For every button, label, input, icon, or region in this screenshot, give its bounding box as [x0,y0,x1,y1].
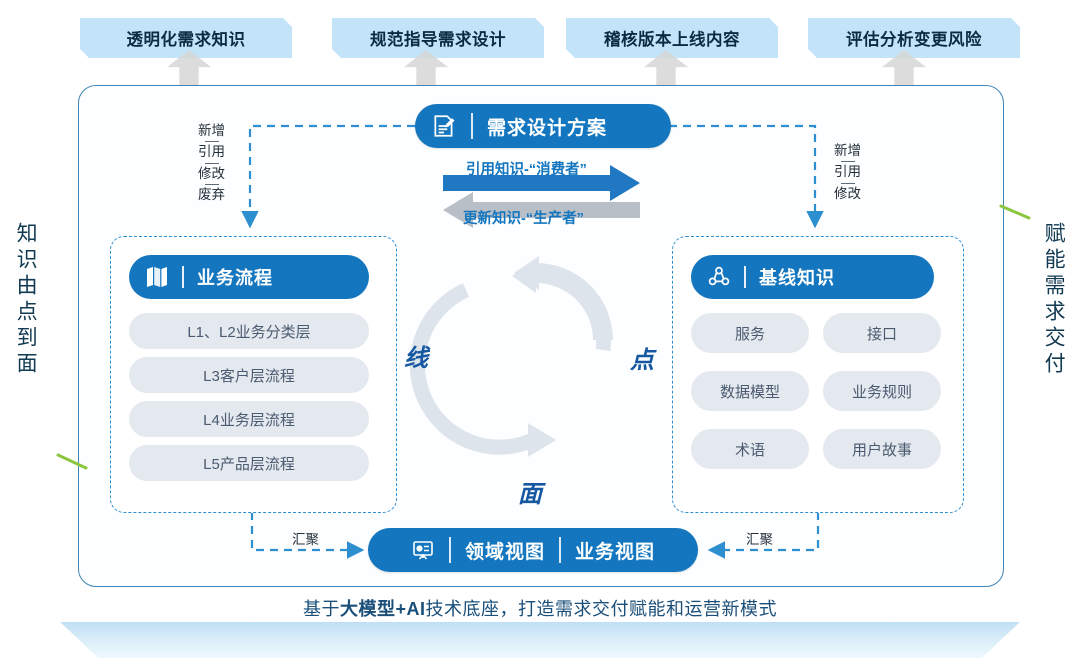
top-banner-0[interactable]: 透明化需求知识 [80,18,292,58]
knowledge-chip-3[interactable]: 业务规则 [823,371,941,411]
knowledge-chip-5[interactable]: 用户故事 [823,429,941,469]
chip-label: 用户故事 [852,439,912,460]
knowledge-chip-2[interactable]: 数据模型 [691,371,809,411]
knowledge-chip-1[interactable]: 接口 [823,313,941,353]
right-note-0: 新增 [834,144,861,158]
chip-label: 服务 [735,323,765,344]
left-note-1: 引用 [198,145,225,159]
cycle-label-plane: 面 [518,474,542,509]
cycle-label-point: 点 [630,340,654,375]
view-pill[interactable]: 领域视图 业务视图 [368,528,698,572]
right-gradient-arrow-icon [1001,206,1029,470]
business-process-title: 业务流程 [197,264,273,290]
top-banner-label: 透明化需求知识 [127,26,246,50]
baseline-knowledge-title: 基线知识 [759,264,835,290]
pill-divider [449,537,451,563]
requirement-design-title: 需求设计方案 [487,113,607,140]
consumer-flow-label: 引用知识-“消费者” [466,158,587,179]
chip-label: 术语 [735,439,765,460]
chip-label: 接口 [867,323,897,344]
gather-label-left: 汇聚 [292,528,319,548]
process-chip-1[interactable]: L3客户层流程 [129,357,369,393]
note-dash [841,161,855,162]
top-banner-2[interactable]: 稽核版本上线内容 [566,18,778,58]
header-divider [744,266,746,288]
process-chip-2[interactable]: L4业务层流程 [129,401,369,437]
cycle-label-line: 线 [404,338,428,373]
producer-flow-label: 更新知识-“生产者” [463,207,584,228]
top-banner-label: 评估分析变更风险 [846,26,982,50]
chip-label: L1、L2业务分类层 [187,321,310,342]
left-note-2: 修改 [198,167,225,181]
document-edit-icon [431,113,457,139]
pill-divider [471,113,473,139]
chip-label: L4业务层流程 [203,409,295,430]
top-banner-1[interactable]: 规范指导需求设计 [332,18,544,58]
top-banner-label: 稽核版本上线内容 [604,26,740,50]
caption: 基于大模型+AI技术底座，打造需求交付赋能和运营新模式 [0,595,1080,621]
chip-label: L5产品层流程 [203,453,295,474]
top-banner-3[interactable]: 评估分析变更风险 [808,18,1020,58]
caption-suffix: 技术底座，打造需求交付赋能和运营新模式 [426,599,778,619]
chip-label: L3客户层流程 [203,365,295,386]
note-dash [841,183,855,184]
right-note-1: 引用 [834,165,861,179]
chip-label: 业务规则 [852,381,912,402]
book-icon [145,266,169,288]
requirement-design-pill[interactable]: 需求设计方案 [415,104,671,148]
process-chip-0[interactable]: L1、L2业务分类层 [129,313,369,349]
baseline-knowledge-panel: 基线知识 服务 接口 数据模型 业务规则 术语 用户故事 [672,236,964,513]
board-icon [411,538,435,562]
left-note-3: 废弃 [198,188,225,202]
pill-divider-2 [559,537,561,563]
note-dash [205,163,219,164]
domain-view-title: 领域视图 [465,537,545,564]
note-dash [205,184,219,185]
note-dash [205,141,219,142]
diagram-canvas: 透明化需求知识 规范指导需求设计 稽核版本上线内容 评估分析变更风险 [0,0,1080,664]
top-banner-label: 规范指导需求设计 [370,26,506,50]
right-note-stack: 新增 引用 修改 [834,144,861,201]
caption-prefix: 基于 [303,599,340,619]
business-view-title: 业务视图 [575,537,655,564]
knowledge-chip-4[interactable]: 术语 [691,429,809,469]
caption-bold: 大模型+AI [340,599,426,619]
header-divider [182,266,184,288]
business-process-panel: 业务流程 L1、L2业务分类层 L3客户层流程 L4业务层流程 L5产品层流程 [110,236,397,513]
left-note-0: 新增 [198,124,225,138]
knowledge-chip-0[interactable]: 服务 [691,313,809,353]
right-note-2: 修改 [834,187,861,201]
chip-label: 数据模型 [720,381,780,402]
right-vertical-label: 赋能需求交付 [1042,222,1065,378]
network-node-icon [707,265,731,289]
gather-label-right: 汇聚 [746,528,773,548]
baseline-knowledge-header[interactable]: 基线知识 [691,255,934,299]
left-note-stack: 新增 引用 修改 废弃 [198,124,225,202]
bottom-trapezoid [60,622,1020,658]
left-vertical-label: 知识由点到面 [14,222,37,378]
process-chip-3[interactable]: L5产品层流程 [129,445,369,481]
business-process-header[interactable]: 业务流程 [129,255,369,299]
